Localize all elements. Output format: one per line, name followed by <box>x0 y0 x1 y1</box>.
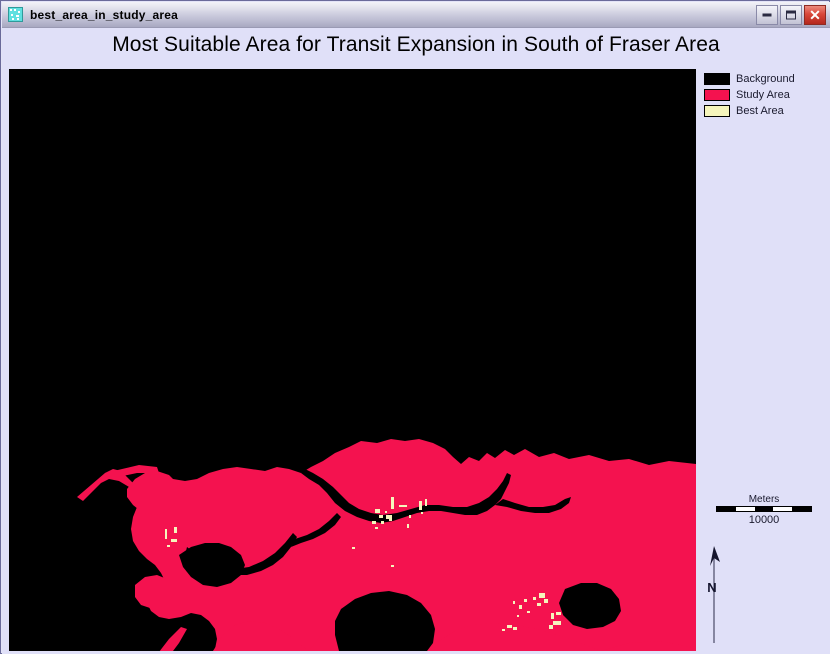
map-legend: Background Study Area Best Area <box>704 71 824 119</box>
close-button[interactable]: ✕ <box>804 5 826 25</box>
legend-swatch-background <box>704 73 730 85</box>
legend-item-background: Background <box>704 71 824 87</box>
scale-bar-value: 10000 <box>714 514 814 527</box>
maximize-icon <box>786 10 796 19</box>
legend-swatch-study-area <box>704 89 730 101</box>
window-controls: ✕ <box>756 5 826 25</box>
scale-bar-segment <box>736 507 755 511</box>
legend-label-background: Background <box>736 73 795 85</box>
legend-swatch-best-area <box>704 105 730 117</box>
scale-bar: Meters 10000 <box>714 494 814 527</box>
scale-bar-caption: Meters <box>714 494 814 505</box>
window-title: best_area_in_study_area <box>30 8 178 22</box>
scale-bar-segment <box>792 507 811 511</box>
legend-label-best-area: Best Area <box>736 105 784 117</box>
north-arrow-label: N <box>707 580 716 595</box>
application-window: best_area_in_study_area ✕ Most Suitable … <box>0 0 830 654</box>
legend-item-study-area: Study Area <box>704 87 824 103</box>
legend-item-best-area: Best Area <box>704 103 824 119</box>
close-icon: ✕ <box>809 8 821 22</box>
maximize-button[interactable] <box>780 5 802 25</box>
legend-label-study-area: Study Area <box>736 89 790 101</box>
raster-layer-icon <box>8 7 23 22</box>
minimize-button[interactable] <box>756 5 778 25</box>
north-arrow-graphic: N <box>699 540 729 645</box>
map-layers <box>9 69 696 651</box>
scale-bar-segment <box>755 507 774 511</box>
map-canvas[interactable] <box>9 69 696 651</box>
client-area: Most Suitable Area for Transit Expansion… <box>2 28 830 654</box>
north-arrow: N <box>699 540 729 645</box>
minimize-icon <box>763 13 772 16</box>
scale-bar-segment <box>773 507 792 511</box>
scale-bar-segment <box>717 507 736 511</box>
scale-bar-graphic <box>716 506 812 512</box>
page-title: Most Suitable Area for Transit Expansion… <box>2 33 830 57</box>
title-bar[interactable]: best_area_in_study_area ✕ <box>2 2 830 28</box>
